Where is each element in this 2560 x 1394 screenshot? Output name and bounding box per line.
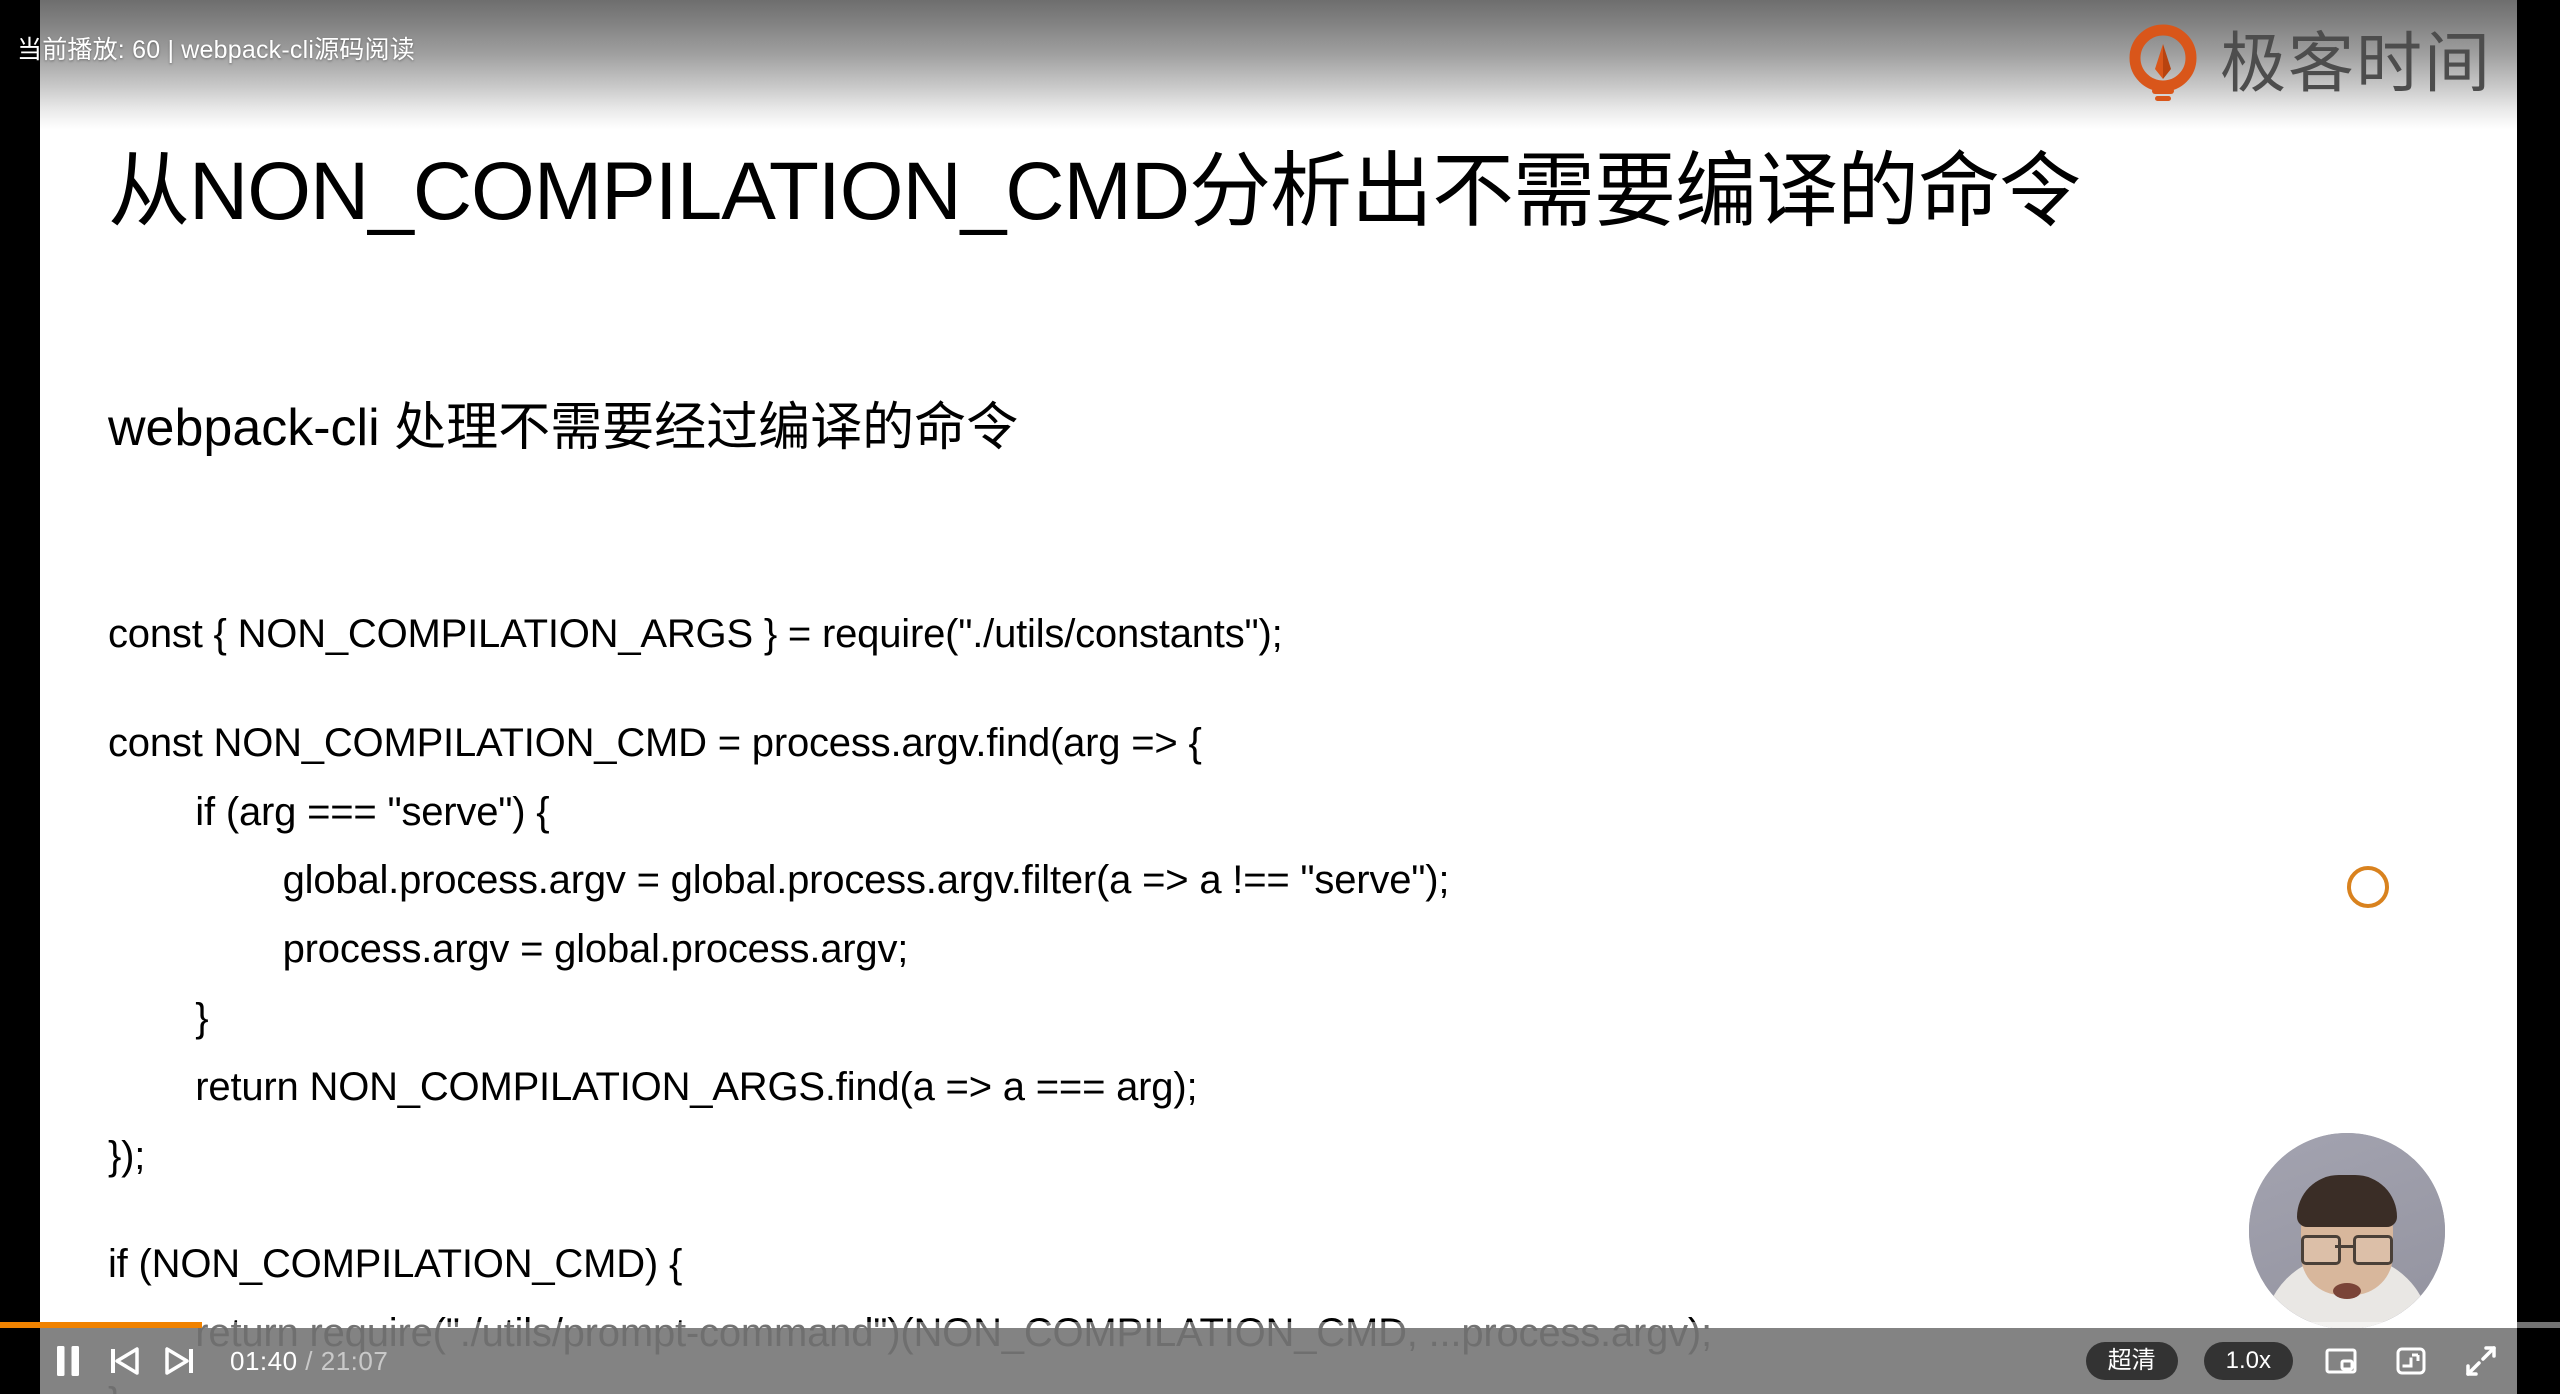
picture-in-picture-icon[interactable] bbox=[2319, 1339, 2363, 1383]
now-playing-label: 当前播放: 60 | webpack-cli源码阅读 bbox=[17, 30, 415, 66]
pause-button[interactable] bbox=[40, 1328, 96, 1394]
brand-logo: 极客时间 bbox=[2122, 22, 2492, 104]
presenter-glasses-right bbox=[2353, 1235, 2393, 1265]
player-control-bar: 01:40 / 21:07 超清 1.0x bbox=[0, 1328, 2560, 1394]
current-time: 01:40 bbox=[230, 1346, 298, 1376]
code-line: const NON_COMPILATION_CMD = process.argv… bbox=[108, 709, 2408, 778]
slide-stage[interactable]: 从NON_COMPILATION_CMD分析出不需要编译的命令 webpack-… bbox=[40, 0, 2517, 1394]
code-line: if (arg === "serve") { bbox=[108, 778, 2408, 847]
slide-title: 从NON_COMPILATION_CMD分析出不需要编译的命令 bbox=[108, 148, 2080, 237]
time-display: 01:40 / 21:07 bbox=[230, 1346, 388, 1377]
playback-speed-selector[interactable]: 1.0x bbox=[2204, 1342, 2293, 1380]
presenter-mouth bbox=[2333, 1283, 2361, 1299]
time-separator: / bbox=[298, 1346, 321, 1376]
control-bar-left-group: 01:40 / 21:07 bbox=[40, 1328, 388, 1394]
code-line: const { NON_COMPILATION_ARGS } = require… bbox=[108, 600, 2408, 669]
code-line: }); bbox=[108, 1122, 2408, 1191]
code-line: return NON_COMPILATION_ARGS.find(a => a … bbox=[108, 1053, 2408, 1122]
code-line bbox=[108, 669, 2408, 709]
slide-content: 从NON_COMPILATION_CMD分析出不需要编译的命令 webpack-… bbox=[40, 0, 2517, 1394]
fullscreen-icon[interactable] bbox=[2459, 1339, 2503, 1383]
letterbox-bottom-right bbox=[2517, 1328, 2560, 1394]
code-line bbox=[108, 1190, 2408, 1230]
code-line: global.process.argv = global.process.arg… bbox=[108, 846, 2408, 915]
total-time: 21:07 bbox=[321, 1346, 389, 1376]
control-bar-right-group: 超清 1.0x bbox=[2086, 1328, 2517, 1394]
progress-bar-track[interactable] bbox=[0, 1322, 2560, 1328]
code-line: process.argv = global.process.argv; bbox=[108, 915, 2408, 984]
geektime-lightbulb-icon bbox=[2122, 22, 2204, 104]
web-fullscreen-icon[interactable] bbox=[2389, 1339, 2433, 1383]
presenter-glasses-left bbox=[2301, 1235, 2341, 1265]
quality-selector[interactable]: 超清 bbox=[2086, 1342, 2178, 1380]
annotation-ring-icon bbox=[2347, 866, 2389, 908]
previous-button[interactable] bbox=[96, 1328, 152, 1394]
presenter-glasses-bridge bbox=[2335, 1245, 2353, 1248]
brand-name: 极客时间 bbox=[2220, 30, 2492, 96]
code-line: } bbox=[108, 984, 2408, 1053]
progress-bar-fill bbox=[0, 1322, 202, 1328]
presenter-video-bubble[interactable] bbox=[2249, 1133, 2445, 1329]
video-player: 从NON_COMPILATION_CMD分析出不需要编译的命令 webpack-… bbox=[0, 0, 2560, 1394]
letterbox-top-right bbox=[2517, 0, 2560, 130]
code-block: const { NON_COMPILATION_ARGS } = require… bbox=[108, 600, 2408, 1394]
code-line: if (NON_COMPILATION_CMD) { bbox=[108, 1230, 2408, 1299]
letterbox-bottom-left bbox=[0, 1328, 40, 1394]
next-button[interactable] bbox=[152, 1328, 208, 1394]
slide-subtitle: webpack-cli 处理不需要经过编译的命令 bbox=[108, 400, 1018, 457]
